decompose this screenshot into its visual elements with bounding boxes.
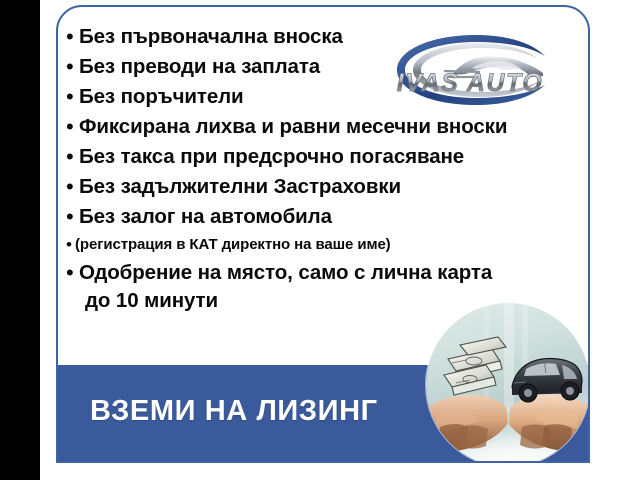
list-item-label: Фиксирана лихва и равни месечни вноски bbox=[79, 113, 507, 140]
list-item: • Без такса при предсрочно погасяване bbox=[66, 143, 590, 173]
bullet-icon: • bbox=[66, 206, 79, 228]
final-line-1: Одобрение на място, само с лична карта bbox=[79, 261, 492, 284]
list-item-label: Без задължителни Застраховки bbox=[79, 173, 401, 200]
list-item: • Фиксирана лихва и равни месечни вноски bbox=[66, 113, 590, 143]
bullet-icon: • bbox=[66, 262, 79, 284]
list-item-label: Без преводи на заплата bbox=[79, 53, 320, 80]
bullet-icon: • bbox=[66, 116, 79, 138]
hands-money-car-illustration bbox=[426, 303, 590, 463]
letterbox-bar-left bbox=[0, 0, 40, 480]
list-item: • Без първоначална вноска bbox=[66, 23, 590, 53]
list-item-note: • (регистрация в КАТ директно на ваше им… bbox=[66, 233, 590, 259]
list-item-label: Без залог на автомобила bbox=[79, 203, 332, 230]
list-item: • Без поръчители bbox=[66, 83, 590, 113]
final-line-2: до 10 минути bbox=[79, 287, 492, 315]
list-item: • Без преводи на заплата bbox=[66, 53, 590, 83]
list-item-label: Без поръчители bbox=[79, 83, 244, 110]
list-item-final-label: Одобрение на място, само с лична карта д… bbox=[79, 259, 492, 315]
list-item: • Без задължителни Застраховки bbox=[66, 173, 590, 203]
bullet-icon: • bbox=[66, 86, 79, 108]
hands-money-car-photo bbox=[426, 303, 590, 463]
advertisement-stage: IVAS AUTO • Без първоначална вноска • Бе… bbox=[0, 0, 640, 480]
list-item-note-label: (регистрация в КАТ директно на ваше име) bbox=[75, 233, 391, 257]
bullet-icon: • bbox=[66, 56, 79, 78]
bullet-icon: • bbox=[66, 236, 75, 253]
benefits-list: • Без първоначална вноска • Без преводи … bbox=[66, 23, 590, 315]
list-item: • Без залог на автомобила bbox=[66, 203, 590, 233]
cta-banner-title: ВЗЕМИ НА ЛИЗИНГ bbox=[90, 395, 378, 428]
bullet-icon: • bbox=[66, 26, 79, 48]
offer-card: IVAS AUTO • Без първоначална вноска • Бе… bbox=[56, 5, 590, 463]
list-item-label: Без първоначална вноска bbox=[79, 23, 343, 50]
list-item-label: Без такса при предсрочно погасяване bbox=[79, 143, 464, 170]
bullet-icon: • bbox=[66, 176, 79, 198]
bullet-icon: • bbox=[66, 146, 79, 168]
